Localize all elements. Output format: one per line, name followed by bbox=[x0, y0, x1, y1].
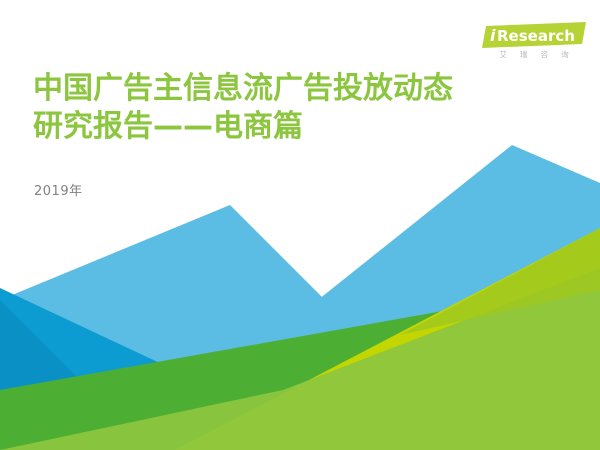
mountain-polygon-artwork bbox=[0, 0, 600, 450]
title-line-1: 中国广告主信息流广告投放动态 bbox=[33, 70, 573, 108]
report-year-text: 2019年 bbox=[34, 184, 83, 199]
logo-wordmark-i: i bbox=[490, 26, 496, 45]
iresearch-logo: i Research 艾 瑞 咨 询 bbox=[482, 22, 586, 60]
report-cover-slide: i Research 艾 瑞 咨 询 中国广告主信息流广告投放动态 研究报告——… bbox=[0, 0, 600, 450]
logo-wordmark-text: Research bbox=[497, 27, 575, 45]
report-year: 2019年 bbox=[34, 180, 83, 200]
logo-chinese-name: 艾 瑞 咨 询 bbox=[482, 50, 586, 60]
iresearch-wordmark-icon: i Research bbox=[482, 22, 586, 48]
page-title: 中国广告主信息流广告投放动态 研究报告——电商篇 bbox=[33, 70, 573, 146]
title-line-2: 研究报告——电商篇 bbox=[33, 108, 573, 146]
